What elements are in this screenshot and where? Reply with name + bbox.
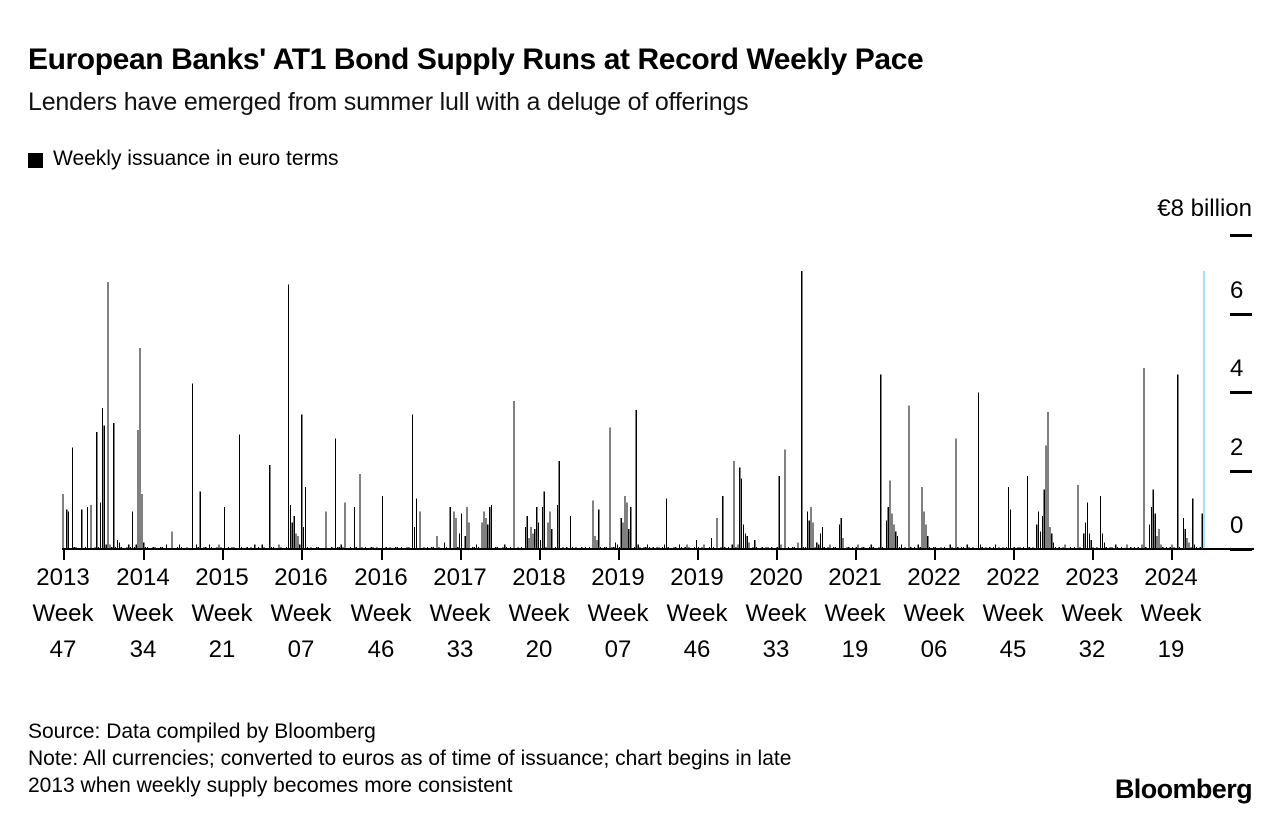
bar bbox=[621, 518, 622, 549]
bar bbox=[68, 511, 69, 549]
bar bbox=[200, 492, 201, 549]
bar bbox=[87, 507, 88, 549]
bar bbox=[239, 434, 240, 549]
bar bbox=[1085, 523, 1086, 549]
note-line-1: Note: All currencies; converted to euros… bbox=[28, 745, 1048, 772]
bar bbox=[542, 507, 543, 549]
bar-series bbox=[62, 196, 1205, 549]
bar bbox=[113, 423, 114, 549]
legend-square-marker-icon bbox=[28, 153, 43, 168]
bar bbox=[482, 523, 483, 549]
bar bbox=[594, 536, 595, 549]
bar bbox=[743, 525, 744, 549]
bar bbox=[1149, 525, 1150, 549]
bar bbox=[91, 505, 92, 549]
bar bbox=[1153, 489, 1154, 549]
bar bbox=[62, 494, 63, 549]
bar bbox=[1102, 534, 1103, 549]
bar bbox=[1089, 534, 1090, 549]
bar bbox=[1038, 511, 1039, 549]
bar bbox=[536, 507, 537, 549]
x-tick-week-number: 19 bbox=[1116, 632, 1226, 668]
bar bbox=[908, 406, 909, 549]
chart-legend: Weekly issuance in euro terms bbox=[28, 146, 339, 172]
bar bbox=[453, 511, 454, 549]
bar bbox=[809, 520, 810, 549]
y-axis: 0246 bbox=[1216, 190, 1280, 562]
bar bbox=[628, 529, 629, 549]
bar bbox=[1078, 485, 1079, 549]
bar bbox=[461, 514, 462, 549]
bar bbox=[465, 536, 466, 549]
bar-highlighted bbox=[1203, 271, 1204, 549]
bar bbox=[527, 516, 528, 549]
x-axis-tick-mark bbox=[618, 550, 620, 560]
bar bbox=[921, 487, 922, 549]
x-axis-tick-mark bbox=[222, 550, 224, 560]
bar bbox=[171, 531, 172, 549]
bar bbox=[626, 503, 627, 549]
bar bbox=[897, 536, 898, 549]
bar bbox=[747, 536, 748, 549]
bar bbox=[532, 534, 533, 549]
bar bbox=[100, 503, 101, 549]
bar bbox=[841, 518, 842, 549]
bar bbox=[741, 478, 742, 549]
bar bbox=[305, 487, 306, 549]
bar bbox=[923, 511, 924, 549]
bar bbox=[224, 507, 225, 549]
bar bbox=[609, 428, 610, 549]
bar bbox=[295, 534, 296, 549]
bar bbox=[544, 492, 545, 549]
bar bbox=[598, 509, 599, 549]
bar bbox=[593, 500, 594, 549]
bar bbox=[1036, 525, 1037, 549]
y-tick-dash-icon bbox=[1230, 470, 1252, 473]
bar bbox=[483, 511, 484, 549]
x-axis-tick-mark bbox=[934, 550, 936, 560]
x-axis: 2013Week472014Week342015Week212016Week07… bbox=[0, 560, 1280, 670]
note-line-2: 2013 when weekly supply becomes more con… bbox=[28, 772, 1048, 799]
bar bbox=[326, 511, 327, 549]
bar bbox=[288, 284, 289, 549]
page-title: European Banks' AT1 Bond Supply Runs at … bbox=[28, 42, 923, 78]
bar bbox=[559, 461, 560, 549]
bar bbox=[839, 525, 840, 549]
x-axis-tick-mark bbox=[697, 550, 699, 560]
bar bbox=[66, 509, 67, 549]
bar bbox=[1010, 509, 1011, 549]
bar bbox=[890, 481, 891, 549]
x-axis-tick-mark bbox=[143, 550, 145, 560]
x-axis-tick-mark bbox=[63, 550, 65, 560]
bar bbox=[570, 516, 571, 549]
bar bbox=[192, 384, 193, 549]
bar bbox=[514, 401, 515, 549]
bar bbox=[891, 514, 892, 549]
bar bbox=[811, 507, 812, 549]
bar bbox=[1049, 527, 1050, 549]
legend-label: Weekly issuance in euro terms bbox=[53, 146, 339, 172]
bar bbox=[1143, 368, 1144, 549]
bar bbox=[1183, 518, 1184, 549]
bar bbox=[1185, 529, 1186, 549]
bar bbox=[269, 465, 270, 549]
bar bbox=[1087, 503, 1088, 549]
bar bbox=[354, 507, 355, 549]
bar bbox=[666, 498, 667, 549]
bar bbox=[534, 529, 535, 549]
bar bbox=[624, 496, 625, 549]
bar bbox=[420, 511, 421, 549]
bar bbox=[812, 523, 813, 549]
bar bbox=[1008, 487, 1009, 549]
x-axis-tick-mark bbox=[1171, 550, 1173, 560]
bar bbox=[547, 523, 548, 549]
bar bbox=[978, 392, 979, 549]
bar bbox=[779, 476, 780, 549]
x-axis-tick-mark bbox=[460, 550, 462, 560]
bar bbox=[104, 425, 105, 549]
bar bbox=[1100, 496, 1101, 549]
x-axis-tick-mark bbox=[1092, 550, 1094, 560]
bar bbox=[549, 511, 550, 549]
bar bbox=[1158, 529, 1159, 549]
bar bbox=[487, 525, 488, 549]
bar bbox=[636, 410, 637, 549]
chart-page: European Banks' AT1 Bond Supply Runs at … bbox=[0, 0, 1280, 834]
x-axis-tick-mark bbox=[301, 550, 303, 560]
y-tick-label: 6 bbox=[1230, 279, 1243, 303]
bar bbox=[538, 523, 539, 549]
bar bbox=[1051, 534, 1052, 549]
bar bbox=[784, 450, 785, 549]
y-tick-dash-icon bbox=[1230, 391, 1252, 394]
bar bbox=[807, 511, 808, 549]
bar bbox=[489, 507, 490, 549]
bar bbox=[416, 498, 417, 549]
bar bbox=[1192, 498, 1193, 549]
x-axis-tick-mark bbox=[855, 550, 857, 560]
source-line: Source: Data compiled by Bloomberg bbox=[28, 718, 1048, 745]
bar bbox=[139, 348, 140, 549]
bar bbox=[1046, 445, 1047, 549]
bar bbox=[1083, 534, 1084, 549]
bar bbox=[717, 518, 718, 549]
bar bbox=[102, 408, 103, 549]
bloomberg-logo: Bloomberg bbox=[1115, 774, 1252, 805]
bar bbox=[557, 505, 558, 549]
y-tick-dash-icon bbox=[1230, 548, 1252, 551]
x-axis-tick-mark bbox=[1013, 550, 1015, 560]
bar bbox=[734, 461, 735, 549]
bar bbox=[467, 507, 468, 549]
bar bbox=[1040, 531, 1041, 549]
bar bbox=[1042, 516, 1043, 549]
y-tick-label: 0 bbox=[1230, 514, 1243, 538]
bar bbox=[294, 516, 295, 549]
bar bbox=[530, 527, 531, 549]
bar bbox=[290, 505, 291, 549]
footer-notes: Source: Data compiled by Bloomberg Note:… bbox=[28, 718, 1048, 799]
bar bbox=[72, 448, 73, 549]
bar bbox=[141, 494, 142, 549]
x-axis-tick-label-14: 2024Week19 bbox=[1116, 560, 1226, 668]
bar bbox=[925, 525, 926, 549]
y-tick-label: 4 bbox=[1230, 357, 1243, 381]
x-axis-tick-mark bbox=[539, 550, 541, 560]
x-tick-week-word: Week bbox=[1116, 596, 1226, 632]
bar bbox=[822, 527, 823, 549]
bar bbox=[297, 536, 298, 549]
bar bbox=[485, 518, 486, 549]
bar bbox=[344, 503, 345, 549]
bar bbox=[888, 507, 889, 549]
y-tick-label: 2 bbox=[1230, 436, 1243, 460]
bar bbox=[491, 505, 492, 549]
bar bbox=[895, 531, 896, 549]
bar bbox=[739, 467, 740, 549]
bar bbox=[132, 511, 133, 549]
bar bbox=[301, 414, 302, 549]
bar bbox=[359, 474, 360, 549]
bar bbox=[1151, 507, 1152, 549]
bar bbox=[335, 439, 336, 549]
bar bbox=[893, 525, 894, 549]
bar bbox=[1047, 412, 1048, 549]
bar bbox=[886, 520, 887, 549]
bar bbox=[107, 282, 108, 549]
bar bbox=[382, 496, 383, 549]
bar bbox=[927, 536, 928, 549]
bar bbox=[436, 536, 437, 549]
x-axis-tick-mark bbox=[381, 550, 383, 560]
bar bbox=[1202, 514, 1203, 549]
x-tick-year: 2024 bbox=[1116, 560, 1226, 596]
bar bbox=[745, 534, 746, 549]
x-axis-baseline bbox=[62, 548, 1254, 550]
bar bbox=[1156, 536, 1157, 549]
bar bbox=[801, 271, 802, 549]
bar bbox=[880, 375, 881, 549]
plot-area bbox=[62, 196, 1205, 549]
bar bbox=[292, 523, 293, 549]
bar bbox=[96, 432, 97, 549]
bar bbox=[414, 527, 415, 549]
bar bbox=[1177, 375, 1178, 549]
x-axis-tick-mark bbox=[776, 550, 778, 560]
bar bbox=[955, 439, 956, 549]
bar bbox=[722, 496, 723, 549]
bar bbox=[459, 534, 460, 549]
page-subtitle: Lenders have emerged from summer lull wi… bbox=[28, 86, 748, 118]
bar bbox=[551, 529, 552, 549]
bar bbox=[450, 507, 451, 549]
bar bbox=[455, 518, 456, 549]
bar bbox=[81, 509, 82, 549]
bar bbox=[820, 534, 821, 549]
bar bbox=[1044, 489, 1045, 549]
bar bbox=[1155, 514, 1156, 549]
bar bbox=[138, 430, 139, 549]
bar bbox=[1027, 476, 1028, 549]
bar bbox=[623, 523, 624, 549]
bar bbox=[525, 527, 526, 549]
y-tick-dash-icon bbox=[1230, 313, 1252, 316]
bar bbox=[468, 523, 469, 549]
bar bbox=[303, 527, 304, 549]
bar bbox=[412, 414, 413, 549]
y-tick-dash-icon bbox=[1230, 234, 1252, 237]
bar bbox=[630, 507, 631, 549]
